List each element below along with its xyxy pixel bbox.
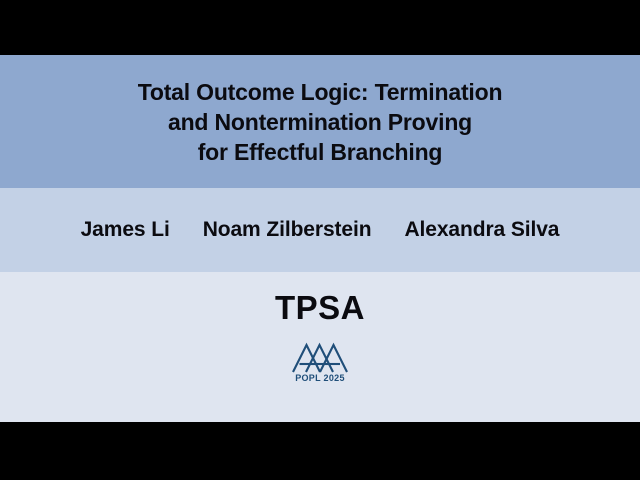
title-line-3: for Effectful Branching <box>198 137 443 167</box>
title-band: Total Outcome Logic: Termination and Non… <box>0 55 640 188</box>
popl-mountains-icon <box>290 342 350 374</box>
author-name: Noam Zilberstein <box>203 218 372 242</box>
author-name: James Li <box>81 218 170 242</box>
title-line-2: and Nontermination Proving <box>168 107 472 137</box>
letterbox-bar-top <box>0 0 640 55</box>
title-line-1: Total Outcome Logic: Termination <box>138 77 503 107</box>
venue-title: TPSA <box>275 290 365 326</box>
author-name: Alexandra Silva <box>404 218 559 242</box>
venue-band: TPSA POPL 2025 <box>0 272 640 422</box>
letterbox-bar-bottom <box>0 422 640 480</box>
author-list: James Li Noam Zilberstein Alexandra Silv… <box>81 218 560 242</box>
authors-band: James Li Noam Zilberstein Alexandra Silv… <box>0 188 640 272</box>
title-slide: Total Outcome Logic: Termination and Non… <box>0 0 640 480</box>
popl-logo-caption: POPL 2025 <box>295 373 345 383</box>
popl-logo: POPL 2025 <box>290 342 350 383</box>
